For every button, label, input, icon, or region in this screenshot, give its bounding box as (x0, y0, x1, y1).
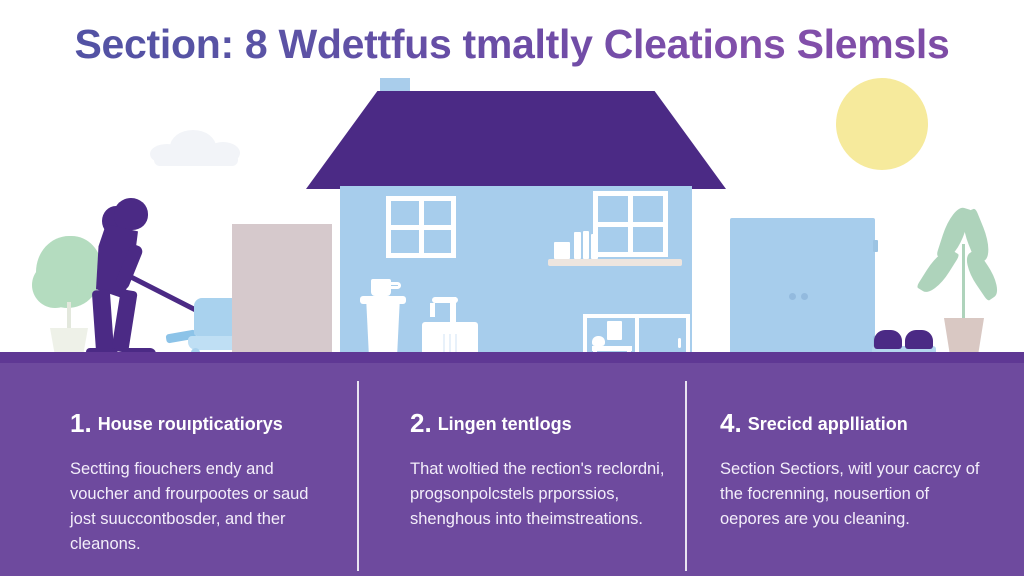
info-column-1: 1.House rouıpticatiorys Sectting fiouche… (70, 363, 332, 557)
window-left-icon (386, 196, 456, 258)
column-divider-2 (685, 381, 687, 571)
wall-picture-icon (607, 321, 622, 340)
info-column-3: 4.Srecicd applliation Section Sectiors, … (720, 363, 982, 532)
column-body-text: That woltied the rection's reclordni, pr… (410, 457, 672, 532)
house-walls (340, 186, 692, 363)
shelf-item-book (583, 231, 589, 259)
floor-band (0, 352, 1024, 363)
column-number: 2. (410, 408, 432, 438)
basket-icon (592, 336, 605, 346)
column-heading-text: Lingen tentlogs (438, 414, 572, 434)
bottom-panel: 1.House rouıpticatiorys Sectting fiouche… (0, 363, 1024, 576)
sun-icon (836, 78, 928, 170)
faucet-stem (450, 297, 456, 323)
sink-detail-lines (443, 334, 457, 354)
door-knob-icon (678, 338, 681, 348)
shelf-item-book (574, 232, 581, 259)
infographic-poster: Section: 8 Wdettfus tmaltly Cleations Sl… (0, 0, 1024, 576)
plant-stalk (962, 244, 965, 322)
column-heading-text: Srecicd applliation (748, 414, 908, 434)
counter-top (592, 346, 632, 351)
cup-handle (390, 282, 401, 289)
cabinet-icon (730, 218, 875, 358)
faucet-drop (430, 303, 435, 317)
house-illustration (306, 86, 726, 363)
column-divider-1 (357, 381, 359, 571)
plant-leaf (960, 249, 1005, 302)
column-heading: 1.House rouıpticatiorys (70, 409, 332, 438)
person-leg-front (111, 289, 137, 353)
potted-plant-icon (920, 200, 1006, 360)
cloud-icon (150, 128, 242, 162)
shelf-item-box (554, 242, 570, 259)
cabinet-knob-left (789, 293, 796, 300)
column-number: 4. (720, 408, 742, 438)
person-mopping-icon (70, 198, 200, 360)
cabinet-knob-right (801, 293, 808, 300)
cup-icon (371, 279, 391, 296)
column-heading: 4.Srecicd applliation (720, 409, 982, 438)
column-number: 1. (70, 408, 92, 438)
page-title: Section: 8 Wdettfus tmaltly Cleations Sl… (0, 22, 1024, 68)
window-right-icon (593, 191, 668, 257)
column-heading: 2.Lingen tentlogs (410, 409, 672, 438)
column-body-text: Sectting fiouchers endy and voucher and … (70, 457, 332, 557)
cabinet-hinge-top (873, 240, 878, 252)
info-column-2: 2.Lingen tentlogs That woltied the recti… (410, 363, 672, 532)
shelf-item-book (591, 234, 598, 259)
shoe-left (874, 330, 902, 349)
roof-shape (306, 91, 726, 189)
shelf-icon (548, 259, 682, 266)
person-leg-back (92, 289, 114, 354)
column-heading-text: House rouıpticatiorys (98, 414, 283, 434)
person-head (114, 198, 148, 230)
column-body-text: Section Sectiors, witl your cacrcy of th… (720, 457, 982, 532)
